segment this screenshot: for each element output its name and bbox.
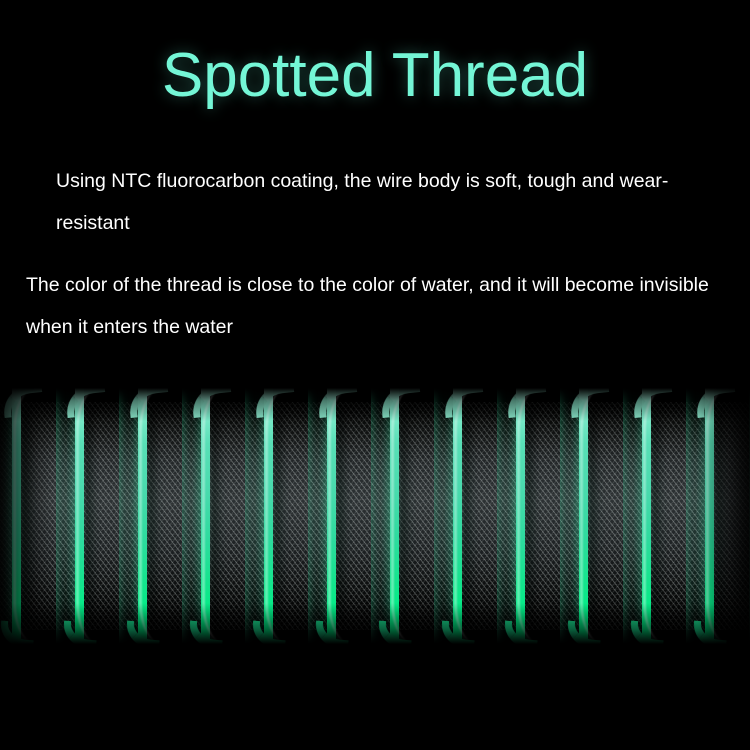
- spool-body: [0, 402, 750, 630]
- page-title: Spotted Thread: [162, 40, 588, 112]
- description-paragraph-2: The color of the thread is close to the …: [0, 264, 750, 348]
- product-photo: [0, 388, 750, 644]
- description-block: Using NTC fluorocarbon coating, the wire…: [0, 160, 750, 348]
- title-block: Spotted Thread: [0, 40, 750, 112]
- product-banner: Spotted Thread Using NTC fluorocarbon co…: [0, 0, 750, 750]
- description-paragraph-1: Using NTC fluorocarbon coating, the wire…: [0, 160, 750, 244]
